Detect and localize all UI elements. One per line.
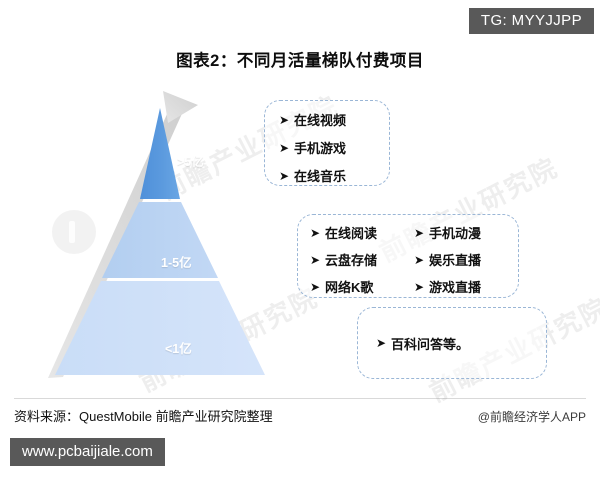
list-item: ➤ 网络K歌 <box>310 277 414 296</box>
bullet-arrow-icon: ➤ <box>414 254 429 266</box>
callout-box-middle-tier: ➤ 在线阅读 ➤ 手机动漫 ➤ 云盘存储 ➤ 娱乐直播 ➤ 网络K歌 ➤ 游戏直… <box>297 214 519 298</box>
footer-divider <box>14 398 586 399</box>
pyramid-svg <box>35 85 285 385</box>
list-item-label: 游戏直播 <box>429 277 481 296</box>
list-item-label: 云盘存储 <box>325 250 377 269</box>
bullet-arrow-icon: ➤ <box>414 227 429 239</box>
source-note: 资料来源：QuestMobile 前瞻产业研究院整理 <box>14 406 273 425</box>
page-title: 图表2：不同月活量梯队付费项目 <box>0 47 600 71</box>
list-item-label: 在线阅读 <box>325 223 377 242</box>
list-item-label: 娱乐直播 <box>429 250 481 269</box>
list-item-label: 手机动漫 <box>429 223 481 242</box>
list-item: ➤ 在线阅读 <box>310 223 414 242</box>
list-item: ➤ 游戏直播 <box>414 277 481 296</box>
app-credit: @前瞻经济学人APP <box>478 408 586 425</box>
bullet-arrow-icon: ➤ <box>310 281 325 293</box>
bullet-arrow-icon: ➤ <box>279 170 294 182</box>
list-item: ➤ 手机动漫 <box>414 223 481 242</box>
bullet-arrow-icon: ➤ <box>310 254 325 266</box>
pyramid-label-top: >5亿 <box>177 151 204 170</box>
bullet-arrow-icon: ➤ <box>279 114 294 126</box>
list-item: ➤ 云盘存储 <box>310 250 414 269</box>
pyramid-chart: >5亿 1-5亿 <1亿 <box>35 85 285 385</box>
list-item-label: 百科问答等。 <box>391 334 469 353</box>
pyramid-label-middle: 1-5亿 <box>161 252 192 271</box>
list-row: ➤ 在线阅读 ➤ 手机动漫 <box>310 223 518 242</box>
bullet-arrow-icon: ➤ <box>310 227 325 239</box>
list-row: ➤ 网络K歌 ➤ 游戏直播 <box>310 277 518 296</box>
site-watermark-badge: www.pcbaijiale.com <box>10 438 165 466</box>
callout-box-bottom-tier: ➤ 百科问答等。 <box>357 307 547 379</box>
callout-box-top-tier: ➤ 在线视频 ➤ 手机游戏 ➤ 在线音乐 <box>264 100 390 186</box>
list-item: ➤ 在线视频 <box>279 110 389 129</box>
list-item-label: 在线视频 <box>294 110 346 129</box>
list-item-label: 手机游戏 <box>294 138 346 157</box>
bullet-arrow-icon: ➤ <box>376 337 391 349</box>
tg-watermark-badge: TG: MYYJJPP <box>469 8 594 34</box>
list-item-label: 在线音乐 <box>294 166 346 185</box>
list-item: ➤ 手机游戏 <box>279 138 389 157</box>
list-item: ➤ 在线音乐 <box>279 166 389 185</box>
bullet-arrow-icon: ➤ <box>279 142 294 154</box>
bullet-arrow-icon: ➤ <box>414 281 429 293</box>
list-item: ➤ 百科问答等。 <box>376 334 469 353</box>
pyramid-label-bottom: <1亿 <box>165 338 192 357</box>
list-item-label: 网络K歌 <box>325 277 373 296</box>
list-item: ➤ 娱乐直播 <box>414 250 481 269</box>
list-row: ➤ 云盘存储 ➤ 娱乐直播 <box>310 250 518 269</box>
